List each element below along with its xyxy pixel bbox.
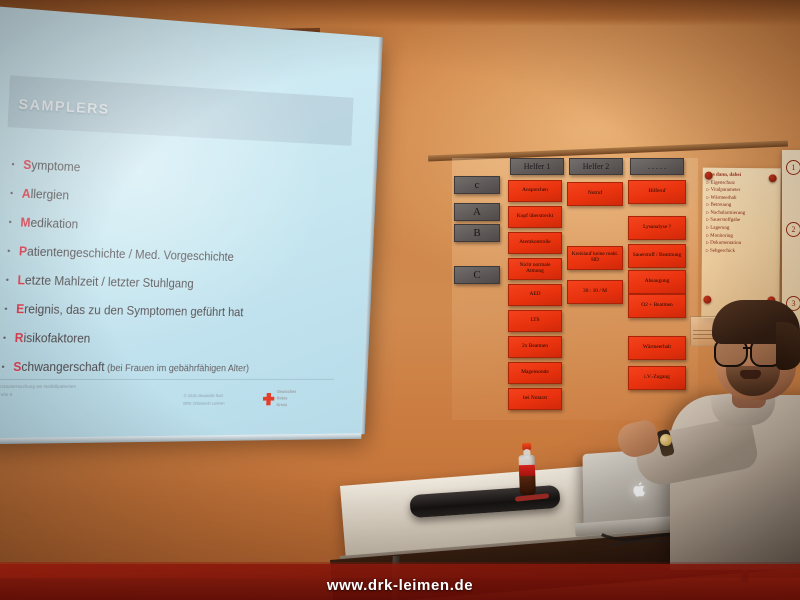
flipchart-item: Sehgeschick [706, 247, 776, 255]
bullet-body: llergien [30, 187, 69, 202]
task-card: Atemkontrolle [508, 232, 562, 254]
bullet-body: isikofaktoren [23, 331, 90, 345]
slide-bullet: •Schwangerschaft (bei Frauen im gebährfä… [1, 360, 345, 374]
watermark-band-highlight [0, 562, 800, 578]
flipchart-list: EigenschutzVitalparameterWärmeerhaltBetr… [706, 179, 777, 256]
task-card: Kopf überstreckt [508, 206, 562, 228]
flipchart-sheet: was dann, dabei EigenschutzVitalparamete… [701, 168, 781, 319]
task-card: Lysanalyse ? [628, 216, 686, 240]
drk-logo-text: Deutsches Rotes Kreuz [276, 389, 296, 408]
bullet-dot-icon: • [3, 334, 7, 343]
presenter-mouth [740, 370, 761, 379]
bullet-dot-icon: • [11, 160, 15, 169]
slide-bullet: •Allergien [10, 186, 352, 213]
slide-footer-left: Erstuntersuchung am Notfallpatienten Fol… [0, 383, 76, 400]
bullet-dot-icon: • [10, 189, 14, 198]
bullet-text: Allergien [22, 187, 70, 203]
cola-bottle [517, 443, 537, 496]
column-header-card: Helfer 2 [569, 158, 623, 175]
drk-line-3: Kreuz [276, 402, 295, 409]
task-card: LTS [508, 310, 562, 332]
flipchart-title: was dann, dabei [707, 173, 777, 179]
bullet-body: reignis, das zu den Symptomen geführt ha… [24, 302, 244, 319]
projection-screen: SAMPLERS •Symptome•Allergien•Medikation•… [0, 6, 380, 439]
bullet-text: Risikofaktoren [14, 331, 90, 345]
slide-bullet: •Letzte Mahlzeit / letzter Stuhlgang [5, 273, 348, 294]
drk-logo: Deutsches Rotes Kreuz [263, 389, 297, 408]
slide-bullet: •Ereignis, das zu den Symptomen geführt … [4, 302, 347, 321]
bullet-text: Letzte Mahlzeit / letzter Stuhlgang [17, 273, 194, 290]
bullet-text: Schwangerschaft (bei Frauen im gebährfäh… [13, 360, 249, 374]
drk-line-1: Deutsches [277, 389, 296, 395]
red-cross-icon [263, 393, 275, 405]
bullet-body: etzte Mahlzeit / letzter Stuhlgang [25, 273, 194, 290]
task-card: AED [508, 284, 562, 306]
slide-footer-center: © 2018 Alexander Bort DRK Ortsverein Lei… [183, 392, 225, 408]
presenter [688, 300, 800, 560]
slide-bullet: •Symptome [11, 157, 353, 186]
bullet-dot-icon: • [1, 363, 5, 372]
task-card: bei Notarzt [508, 388, 562, 410]
card-board: Helfer 1Helfer 2. . . . .cABCAnsprechenK… [452, 158, 698, 420]
task-card: Absaugung [628, 270, 686, 294]
task-card: 2x Beatmen [508, 336, 562, 358]
task-card: i.V.-Zugang [628, 366, 686, 390]
task-card: Ansprechen [508, 180, 562, 202]
apple-logo-icon [631, 480, 647, 498]
bullet-body: atientengeschichte / Med. Vorgeschichte [27, 245, 234, 264]
circled-number-1: 1 [786, 160, 800, 175]
slide-bullet: •Patientengeschichte / Med. Vorgeschicht… [7, 244, 350, 267]
slide-surface: SAMPLERS •Symptome•Allergien•Medikation•… [0, 6, 380, 439]
footer-left-line-1: Erstuntersuchung am Notfallpatienten [0, 383, 76, 391]
glasses-bridge [743, 347, 752, 349]
bullet-dot-icon: • [7, 247, 11, 256]
task-card: Notruf [567, 182, 623, 206]
bullet-dot-icon: • [4, 305, 8, 314]
scheme-card-C: C [454, 266, 500, 284]
slide-bullet: •Risikofaktoren [3, 331, 346, 347]
bullet-text: Symptome [23, 158, 81, 174]
footer-center-line-1: © 2018 Alexander Bort [183, 392, 225, 400]
column-header-card: Helfer 1 [510, 158, 564, 175]
task-card: Nicht normale Atmung [508, 258, 562, 280]
bottle-label [519, 465, 535, 477]
slide-footer-divider [0, 379, 334, 380]
task-card: Hilferuf [628, 180, 686, 204]
slide-bullet-list: •Symptome•Allergien•Medikation•Patienten… [0, 157, 353, 389]
bullet-body: chwangerschaft [21, 360, 105, 374]
watermark-text: www.drk-leimen.de [0, 577, 800, 594]
task-card: Kreislauf keine reakt. HD [567, 246, 623, 270]
task-card: O2 + Beatmen [628, 294, 686, 318]
magnet-icon [705, 172, 713, 180]
task-card: Magensonde [508, 362, 562, 384]
task-card: 30 : 10 / M [567, 280, 623, 304]
bullet-text: Ereignis, das zu den Symptomen geführt h… [16, 302, 244, 319]
slide-bullet: •Medikation [8, 215, 351, 240]
bullet-text: Medikation [20, 216, 78, 232]
magnet-icon [769, 174, 777, 182]
photo-scene: SAMPLERS •Symptome•Allergien•Medikation•… [0, 0, 800, 600]
bullet-body: edikation [30, 216, 78, 231]
bullet-dot-icon: • [8, 218, 12, 227]
footer-left-line-2: Folie 6 [0, 391, 76, 400]
scheme-card-A: A [454, 203, 500, 221]
column-header-card: . . . . . [630, 158, 684, 175]
footer-center-line-2: DRK Ortsverein Leimen [183, 400, 225, 408]
scheme-card-c: c [454, 176, 500, 194]
task-card: Wärmeerhalt [628, 336, 686, 360]
scheme-card-B: B [454, 224, 500, 242]
bullet-subnote: (bei Frauen im gebährfähigen Alter) [104, 363, 249, 374]
bullet-body: ymptome [31, 158, 81, 174]
task-card: Sauerstoff / Beatmung [628, 244, 686, 268]
bullet-dot-icon: • [6, 276, 10, 285]
presenter-hair-side [776, 322, 800, 370]
circled-number-2: 2 [786, 222, 800, 237]
bullet-text: Patientengeschichte / Med. Vorgeschichte [19, 244, 234, 263]
